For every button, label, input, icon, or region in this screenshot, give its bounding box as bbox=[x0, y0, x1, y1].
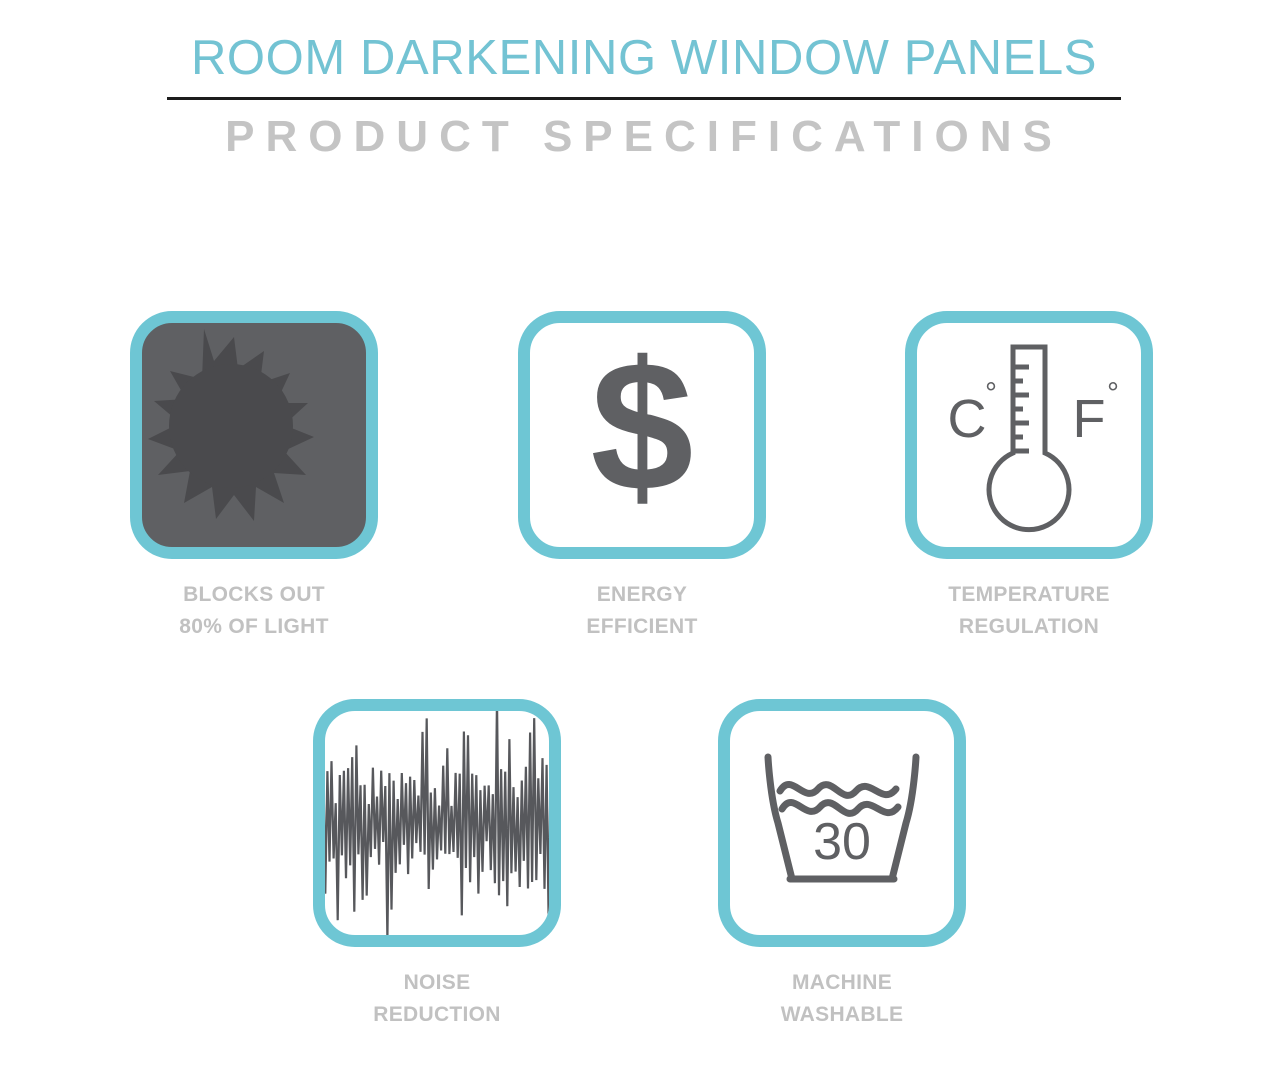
spec-caption-machine-washable: MACHINE WASHABLE bbox=[718, 967, 966, 1031]
caption-line: MACHINE bbox=[718, 967, 966, 999]
spec-item-machine-washable: 30 MACHINE WASHABLE bbox=[718, 699, 966, 1031]
sun-blocked-icon bbox=[142, 323, 366, 547]
caption-line: REGULATION bbox=[905, 611, 1153, 643]
caption-line: 80% OF LIGHT bbox=[130, 611, 378, 643]
wash-tub-icon: 30 bbox=[730, 711, 954, 935]
spec-caption-energy-efficient: ENERGY EFFICIENT bbox=[518, 579, 766, 643]
title-divider bbox=[167, 97, 1121, 100]
spec-caption-blocks-out-light: BLOCKS OUT 80% OF LIGHT bbox=[130, 579, 378, 643]
caption-line: ENERGY bbox=[518, 579, 766, 611]
caption-line: BLOCKS OUT bbox=[130, 579, 378, 611]
celsius-degree-symbol: ° bbox=[985, 377, 997, 410]
spec-card-temperature-regulation: C ° F ° bbox=[905, 311, 1153, 559]
caption-line: WASHABLE bbox=[718, 999, 966, 1031]
caption-line: EFFICIENT bbox=[518, 611, 766, 643]
thermometer-icon: C ° F ° bbox=[917, 323, 1141, 547]
celsius-label: C bbox=[948, 389, 987, 449]
spec-card-noise-reduction bbox=[313, 699, 561, 947]
spec-card-energy-efficient: $ bbox=[518, 311, 766, 559]
fahrenheit-label: F bbox=[1073, 389, 1106, 449]
caption-line: NOISE bbox=[313, 967, 561, 999]
spec-item-noise-reduction: NOISE REDUCTION bbox=[313, 699, 561, 1031]
page-title: ROOM DARKENING WINDOW PANELS bbox=[167, 30, 1121, 86]
spec-item-temperature-regulation: C ° F ° TEMPERATURE REGULATION bbox=[905, 311, 1153, 643]
spec-caption-noise-reduction: NOISE REDUCTION bbox=[313, 967, 561, 1031]
spec-item-energy-efficient: $ ENERGY EFFICIENT bbox=[518, 311, 766, 643]
spec-card-machine-washable: 30 bbox=[718, 699, 966, 947]
spec-card-blocks-out-light bbox=[130, 311, 378, 559]
sound-wave-icon bbox=[325, 711, 549, 935]
spec-caption-temperature-regulation: TEMPERATURE REGULATION bbox=[905, 579, 1153, 643]
page-subtitle: PRODUCT SPECIFICATIONS bbox=[167, 108, 1121, 166]
wash-temperature-label: 30 bbox=[813, 813, 871, 871]
caption-line: TEMPERATURE bbox=[905, 579, 1153, 611]
dollar-sign-icon: $ bbox=[530, 323, 754, 547]
fahrenheit-degree-symbol: ° bbox=[1107, 377, 1119, 410]
dollar-glyph: $ bbox=[591, 324, 694, 530]
spec-item-blocks-out-light: BLOCKS OUT 80% OF LIGHT bbox=[130, 311, 378, 643]
caption-line: REDUCTION bbox=[313, 999, 561, 1031]
